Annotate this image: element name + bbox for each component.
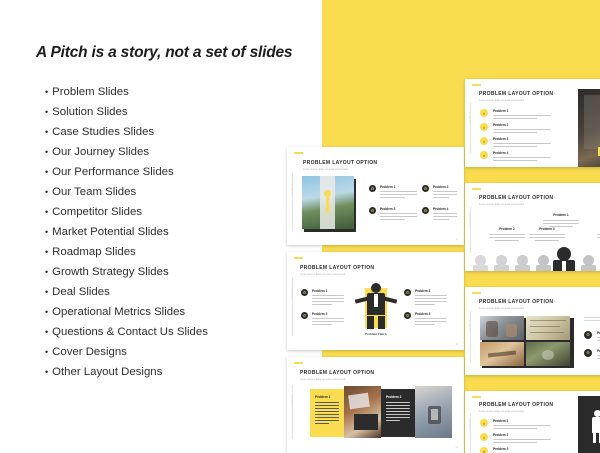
problem-label: Problem 4 [493, 151, 508, 155]
slide-thumbnail-right-4[interactable]: PROBLEM PROBLEM LAYOUT OPTION Lorem ipsu… [465, 391, 600, 453]
list-item-label: Cover Designs [52, 342, 127, 362]
problem-label: Problem 1 [315, 395, 330, 399]
slide-title: PROBLEM LAYOUT OPTION [479, 402, 553, 408]
figure-illustration [355, 283, 397, 329]
problem-label: Problem 3 [493, 447, 508, 451]
slide-thumbnail-right-1[interactable]: PROBLEM PROBLEM LAYOUT OPTION Lorem ipsu… [465, 79, 600, 167]
bullet-icon: • [45, 102, 48, 122]
slide-side-label: PROBLEM [469, 419, 471, 432]
bullet-icon: • [45, 222, 48, 242]
problem-label: Problem 1 [541, 213, 581, 217]
list-item-label: Our Journey Slides [52, 142, 149, 162]
slide-photo [344, 386, 381, 438]
problem-icon: ⚙ [422, 207, 429, 214]
bullet-icon: • [45, 282, 48, 302]
list-item-label: Operational Metrics Slides [52, 302, 185, 322]
list-item-label: Growth Strategy Slides [52, 262, 169, 282]
lightbulb-icon: 💡 [482, 449, 487, 453]
list-item-label: Our Team Slides [52, 182, 136, 202]
gear-icon: ⚙ [303, 314, 307, 318]
list-item: •Growth Strategy Slides [45, 262, 315, 282]
problem-icon: ⚙ [422, 185, 429, 192]
problem-label: Problem 2 [493, 433, 508, 437]
bullet-icon: • [45, 242, 48, 262]
list-item-label: Market Potential Slides [52, 222, 169, 242]
slide-subtitle: Lorem ipsum dolor sit amet consectetur [479, 307, 524, 310]
slide-accent-tag [472, 396, 481, 398]
slide-photo: What are you trying to solve? [578, 89, 600, 167]
problem-icon: 💡 [480, 419, 488, 427]
slide-photo [526, 342, 570, 366]
list-item: •Case Studies Slides [45, 122, 315, 142]
problem-label: Problem 3 [380, 207, 395, 211]
list-item-label: Problem Slides [52, 82, 129, 102]
list-item: •Questions & Contact Us Slides [45, 322, 315, 342]
problem-icon: ⚙ [404, 312, 411, 319]
slide-accent-tag [294, 152, 303, 154]
problem-label: Problem 2 [312, 312, 327, 316]
problem-label: Problem 1 [493, 419, 508, 423]
gear-icon: ⚙ [371, 187, 375, 191]
slide-side-rule [292, 278, 293, 336]
illustration-panel [578, 396, 600, 453]
problem-label: Problem 3 [415, 289, 430, 293]
problem-icon: ⚙ [301, 312, 308, 319]
problem-icon: ⚙ [584, 331, 592, 339]
problem-label: Problem 1 [380, 185, 395, 189]
slide-photo [415, 386, 452, 438]
slide-photo [480, 342, 524, 366]
list-item-label: Other Layout Designs [52, 362, 162, 382]
list-item-label: Solution Slides [52, 102, 127, 122]
left-content-column: A Pitch is a story, not a set of slides … [0, 0, 322, 453]
lightbulb-icon: 💡 [482, 435, 487, 439]
slide-canvas: A Pitch is a story, not a set of slides … [0, 0, 600, 453]
gear-icon: ⚙ [371, 209, 375, 213]
problem-card-dark: Problem 2 [381, 389, 415, 437]
list-item-label: Deal Slides [52, 282, 110, 302]
problem-label: Problem 2 [493, 123, 508, 127]
bullet-icon: • [45, 302, 48, 322]
problem-icon: 💡 [480, 137, 488, 145]
bullet-icon: • [45, 342, 48, 362]
problem-icon: 💡 [480, 123, 488, 131]
slide-subtitle: Lorem ipsum dolor sit amet consectetur [300, 378, 345, 381]
slide-side-label: PROBLEM [291, 395, 293, 408]
list-item-label: Competitor Slides [52, 202, 142, 222]
slide-side-label: PROBLEM [469, 319, 471, 332]
slide-side-rule [292, 173, 293, 231]
gear-icon: ⚙ [586, 351, 590, 355]
slide-accent-tag [294, 257, 303, 259]
list-item: •Our Team Slides [45, 182, 315, 202]
lightbulb-icon: 💡 [482, 139, 487, 143]
lightbulb-icon: 💡 [482, 111, 487, 115]
list-item: •Other Layout Designs [45, 362, 315, 382]
slide-thumbnail-right-2[interactable]: PROBLEM PROBLEM LAYOUT OPTION Lorem ipsu… [465, 183, 600, 271]
problem-icon: 💡 [480, 151, 488, 159]
slide-page-number: 12 [455, 343, 458, 346]
gear-icon: ⚙ [406, 314, 410, 318]
gear-icon: ⚙ [406, 291, 410, 295]
problem-label: Problem 2 [487, 227, 527, 231]
slide-photo [526, 316, 570, 340]
problem-label: Problem 3 [493, 137, 508, 141]
figure-caption: Problem Title A [353, 332, 399, 336]
slide-side-label: PROBLEM [469, 111, 471, 124]
bullet-icon: • [45, 182, 48, 202]
problem-label: Problem 3 [527, 227, 567, 231]
bullet-icon: • [45, 82, 48, 102]
slide-title: PROBLEM LAYOUT OPTION [479, 91, 553, 97]
problem-icon: ⚙ [369, 185, 376, 192]
slide-title: PROBLEM LAYOUT OPTION [303, 160, 377, 166]
problem-label: Problem 4 [415, 312, 430, 316]
problem-label: Problem 4 [433, 207, 448, 211]
slide-subtitle: Lorem ipsum dolor sit amet consectetur [479, 203, 524, 206]
slide-accent-tag [472, 84, 481, 86]
bullet-icon: • [45, 322, 48, 342]
problem-label: Problem 4 [595, 227, 600, 231]
team-avatar-row [473, 253, 600, 271]
list-item: •Market Potential Slides [45, 222, 315, 242]
slide-side-label: PROBLEM [469, 213, 471, 226]
gear-icon: ⚙ [303, 291, 307, 295]
problem-label: Problem 2 [386, 395, 401, 399]
slide-thumbnail-right-3[interactable]: PROBLEM PROBLEM LAYOUT OPTION Lorem ipsu… [465, 287, 600, 375]
slide-thumbnail-center-1[interactable]: PROBLEM PROBLEM LAYOUT OPTION Lorem ipsu… [287, 147, 464, 245]
bullet-icon: • [45, 162, 48, 182]
problem-icon: 💡 [480, 433, 488, 441]
slide-accent-tag [472, 292, 481, 294]
slide-page-number: 11 [456, 238, 458, 241]
problem-card-yellow: Problem 1 [310, 389, 344, 437]
lightbulb-icon: 💡 [482, 153, 487, 157]
problem-icon: ⚙ [301, 289, 308, 296]
slide-title: PROBLEM LAYOUT OPTION [479, 299, 553, 305]
slide-type-list: •Problem Slides •Solution Slides •Case S… [45, 82, 315, 382]
slide-subtitle: Lorem ipsum dolor sit amet consectetur [300, 273, 345, 276]
lightbulb-icon: 💡 [482, 421, 487, 425]
problem-label: Problem 2 [433, 185, 448, 189]
slide-photo [302, 176, 354, 229]
list-item-label: Case Studies Slides [52, 122, 154, 142]
bullet-icon: • [45, 262, 48, 282]
gear-icon: ⚙ [424, 187, 428, 191]
slide-accent-tag [472, 188, 481, 190]
list-item-label: Our Performance Slides [52, 162, 174, 182]
gear-icon: ⚙ [424, 209, 428, 213]
problem-icon: ⚙ [584, 349, 592, 357]
problem-label: Problem 1 [493, 109, 508, 113]
page-title: A Pitch is a story, not a set of slides [36, 44, 316, 62]
problem-icon: 💡 [480, 109, 488, 117]
problem-label: Problem 1 [312, 289, 327, 293]
list-item: •Solution Slides [45, 102, 315, 122]
list-item: •Roadmap Slides [45, 242, 315, 262]
list-item-label: Questions & Contact Us Slides [52, 322, 208, 342]
slide-accent-tag [294, 362, 303, 364]
slide-side-rule [292, 385, 293, 439]
bullet-icon: • [45, 122, 48, 142]
problem-icon: ⚙ [404, 289, 411, 296]
slide-title: PROBLEM LAYOUT OPTION [300, 370, 374, 376]
bullet-icon: • [45, 202, 48, 222]
gear-icon: ⚙ [586, 333, 590, 337]
list-item: •Operational Metrics Slides [45, 302, 315, 322]
list-item: •Cover Designs [45, 342, 315, 362]
slide-side-label: PROBLEM [291, 183, 293, 196]
list-item: •Deal Slides [45, 282, 315, 302]
slide-title: PROBLEM LAYOUT OPTION [300, 265, 374, 271]
slide-subtitle: Lorem ipsum dolor sit amet consectetur [479, 410, 524, 413]
slide-thumbnail-center-2[interactable]: PROBLEM PROBLEM LAYOUT OPTION Lorem ipsu… [287, 252, 464, 350]
problem-icon: ⚙ [369, 207, 376, 214]
list-item: •Competitor Slides [45, 202, 315, 222]
slide-subtitle: Lorem ipsum dolor sit amet consectetur [303, 168, 348, 171]
bullet-icon: • [45, 142, 48, 162]
slide-side-label: PROBLEM [291, 288, 293, 301]
slide-photo [480, 316, 524, 340]
slide-subtitle: Lorem ipsum dolor sit amet consectetur [479, 99, 524, 102]
slide-title: PROBLEM LAYOUT OPTION [479, 195, 553, 201]
slide-thumbnail-center-3[interactable]: PROBLEM PROBLEM LAYOUT OPTION Lorem ipsu… [287, 357, 464, 453]
list-item: •Our Journey Slides [45, 142, 315, 162]
problem-icon: 💡 [480, 447, 488, 453]
list-item: •Our Performance Slides [45, 162, 315, 182]
list-item-label: Roadmap Slides [52, 242, 136, 262]
bullet-icon: • [45, 362, 48, 382]
list-item: •Problem Slides [45, 82, 315, 102]
lightbulb-icon: 💡 [482, 125, 487, 129]
slide-page-number: 13 [455, 446, 458, 449]
